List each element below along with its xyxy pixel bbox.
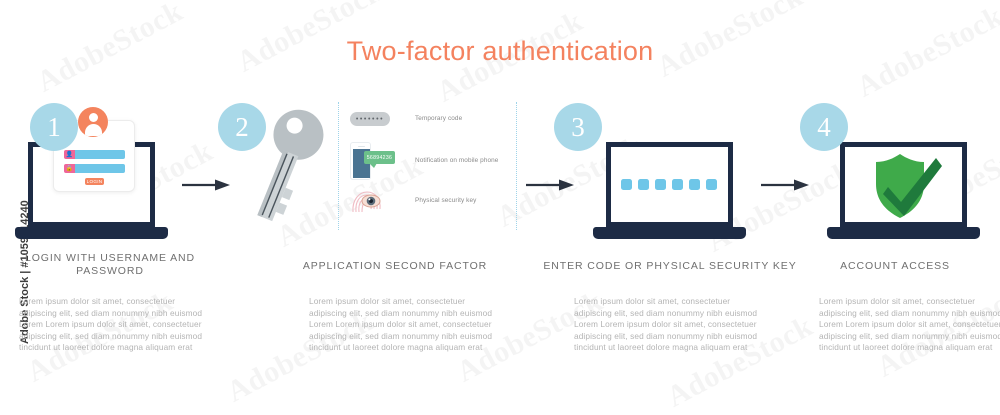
password-dots-pill: •••••••: [350, 112, 390, 126]
divider-left: [338, 102, 339, 230]
laptop-1-base: [15, 227, 168, 239]
code-box-4[interactable]: [672, 179, 683, 190]
step-4: 4 ACCOUNT ACCESS Lorem ipsum dolor sit a…: [795, 100, 995, 240]
step-1-body: Lorem ipsum dolor sit amet, consectetuer…: [19, 296, 209, 354]
step-number-badge-4: 4: [800, 103, 848, 151]
code-box-1[interactable]: [621, 179, 632, 190]
notification-bubble: 56894236: [364, 151, 395, 164]
code-box-6[interactable]: [706, 179, 717, 190]
arrow-2-to-3: [526, 178, 574, 192]
step-number-badge-1: 1: [30, 103, 78, 151]
page-title: Two-factor authentication: [0, 36, 1000, 67]
step-number-badge-2: 2: [218, 103, 266, 151]
username-field[interactable]: 👤: [64, 150, 125, 159]
lock-icon: 🔒: [64, 164, 75, 173]
shield-check-icon: [870, 154, 942, 220]
step-2-visual: 2 ••••••• Temporary code 56894236 Notifi…: [295, 100, 505, 240]
username-input-bar[interactable]: [75, 150, 125, 159]
login-button[interactable]: LOGIN: [85, 178, 104, 185]
fingerprint-eye-icon: [350, 188, 384, 214]
factor-label-physical-key: Physical security key: [415, 197, 476, 204]
arrow-3-to-4: [761, 178, 809, 192]
step-1-visual: 👤 🔒 LOGIN 1: [10, 100, 210, 240]
step-number-badge-3: 3: [554, 103, 602, 151]
laptop-4-base: [827, 227, 980, 239]
factor-label-temporary-code: Temporary code: [415, 115, 462, 122]
step-4-body: Lorem ipsum dolor sit amet, consectetuer…: [819, 296, 1000, 354]
factor-label-mobile-notification: Notification on mobile phone: [415, 157, 498, 164]
step-3-visual: 3: [560, 100, 770, 240]
code-box-3[interactable]: [655, 179, 666, 190]
step-1: 👤 🔒 LOGIN 1 LOGIN WITH USERNAME AND PASS…: [10, 100, 210, 240]
code-box-2[interactable]: [638, 179, 649, 190]
step-2-body: Lorem ipsum dolor sit amet, consectetuer…: [309, 296, 499, 354]
step-2: 2 ••••••• Temporary code 56894236 Notifi…: [295, 100, 505, 240]
step-3-caption: ENTER CODE OR PHYSICAL SECURITY KEY: [540, 260, 800, 273]
code-box-5[interactable]: [689, 179, 700, 190]
avatar: [78, 107, 108, 137]
step-4-caption: ACCOUNT ACCESS: [795, 260, 995, 273]
step-4-visual: 4: [795, 100, 995, 240]
arrow-1-to-2: [182, 178, 230, 192]
step-1-caption: LOGIN WITH USERNAME AND PASSWORD: [10, 252, 210, 278]
step-2-caption: APPLICATION SECOND FACTOR: [275, 260, 515, 273]
phone-speaker: [358, 146, 365, 148]
laptop-3-base: [593, 227, 746, 239]
divider-right: [516, 102, 517, 230]
password-field[interactable]: 🔒: [64, 164, 125, 173]
user-icon: 👤: [64, 150, 75, 159]
step-3-body: Lorem ipsum dolor sit amet, consectetuer…: [574, 296, 764, 354]
step-3: 3 ENTER CODE OR PHYSICAL SECURITY KEY Lo…: [560, 100, 770, 240]
password-input-bar[interactable]: [75, 164, 125, 173]
